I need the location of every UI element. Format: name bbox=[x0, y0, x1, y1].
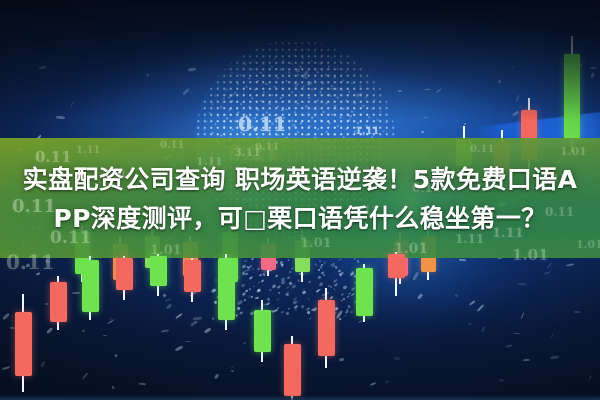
candlestick bbox=[254, 300, 271, 362]
candlestick-body bbox=[150, 256, 167, 286]
candlestick bbox=[388, 252, 405, 296]
headline-line-2: PP深度测评，可□栗口语凭什么稳坐第一？ bbox=[4, 199, 596, 238]
candlestick bbox=[318, 288, 335, 368]
candlestick bbox=[116, 256, 133, 300]
candlestick-body bbox=[15, 312, 32, 376]
candlestick bbox=[284, 336, 301, 400]
candlestick bbox=[184, 258, 201, 302]
candlestick-body bbox=[50, 282, 67, 322]
candlestick-body bbox=[116, 258, 133, 290]
top-dark-overlay bbox=[0, 0, 600, 120]
candlestick bbox=[218, 254, 235, 330]
candlestick bbox=[50, 276, 67, 330]
candlestick bbox=[15, 294, 32, 392]
bottom-rim bbox=[0, 395, 600, 400]
headline-text: 实盘配资公司查询 职场英语逆袭！5款免费口语A PP深度测评，可□栗口语凭什么稳… bbox=[0, 160, 600, 238]
candlestick-body bbox=[254, 310, 271, 352]
candlestick bbox=[356, 264, 373, 322]
candlestick bbox=[82, 256, 99, 320]
candlestick bbox=[150, 254, 167, 296]
candlestick-body bbox=[388, 254, 405, 278]
candlestick-body bbox=[82, 260, 99, 312]
candlestick-body bbox=[184, 260, 201, 292]
banner-image: 0.110.211.11 0.111.010.110.110.111.111.0… bbox=[0, 0, 600, 400]
candlestick-body bbox=[318, 300, 335, 356]
candlestick-body bbox=[284, 344, 301, 396]
candlestick-body bbox=[218, 258, 235, 320]
headline-line-1: 实盘配资公司查询 职场英语逆袭！5款免费口语A bbox=[4, 160, 596, 199]
candlestick-body bbox=[356, 268, 373, 316]
